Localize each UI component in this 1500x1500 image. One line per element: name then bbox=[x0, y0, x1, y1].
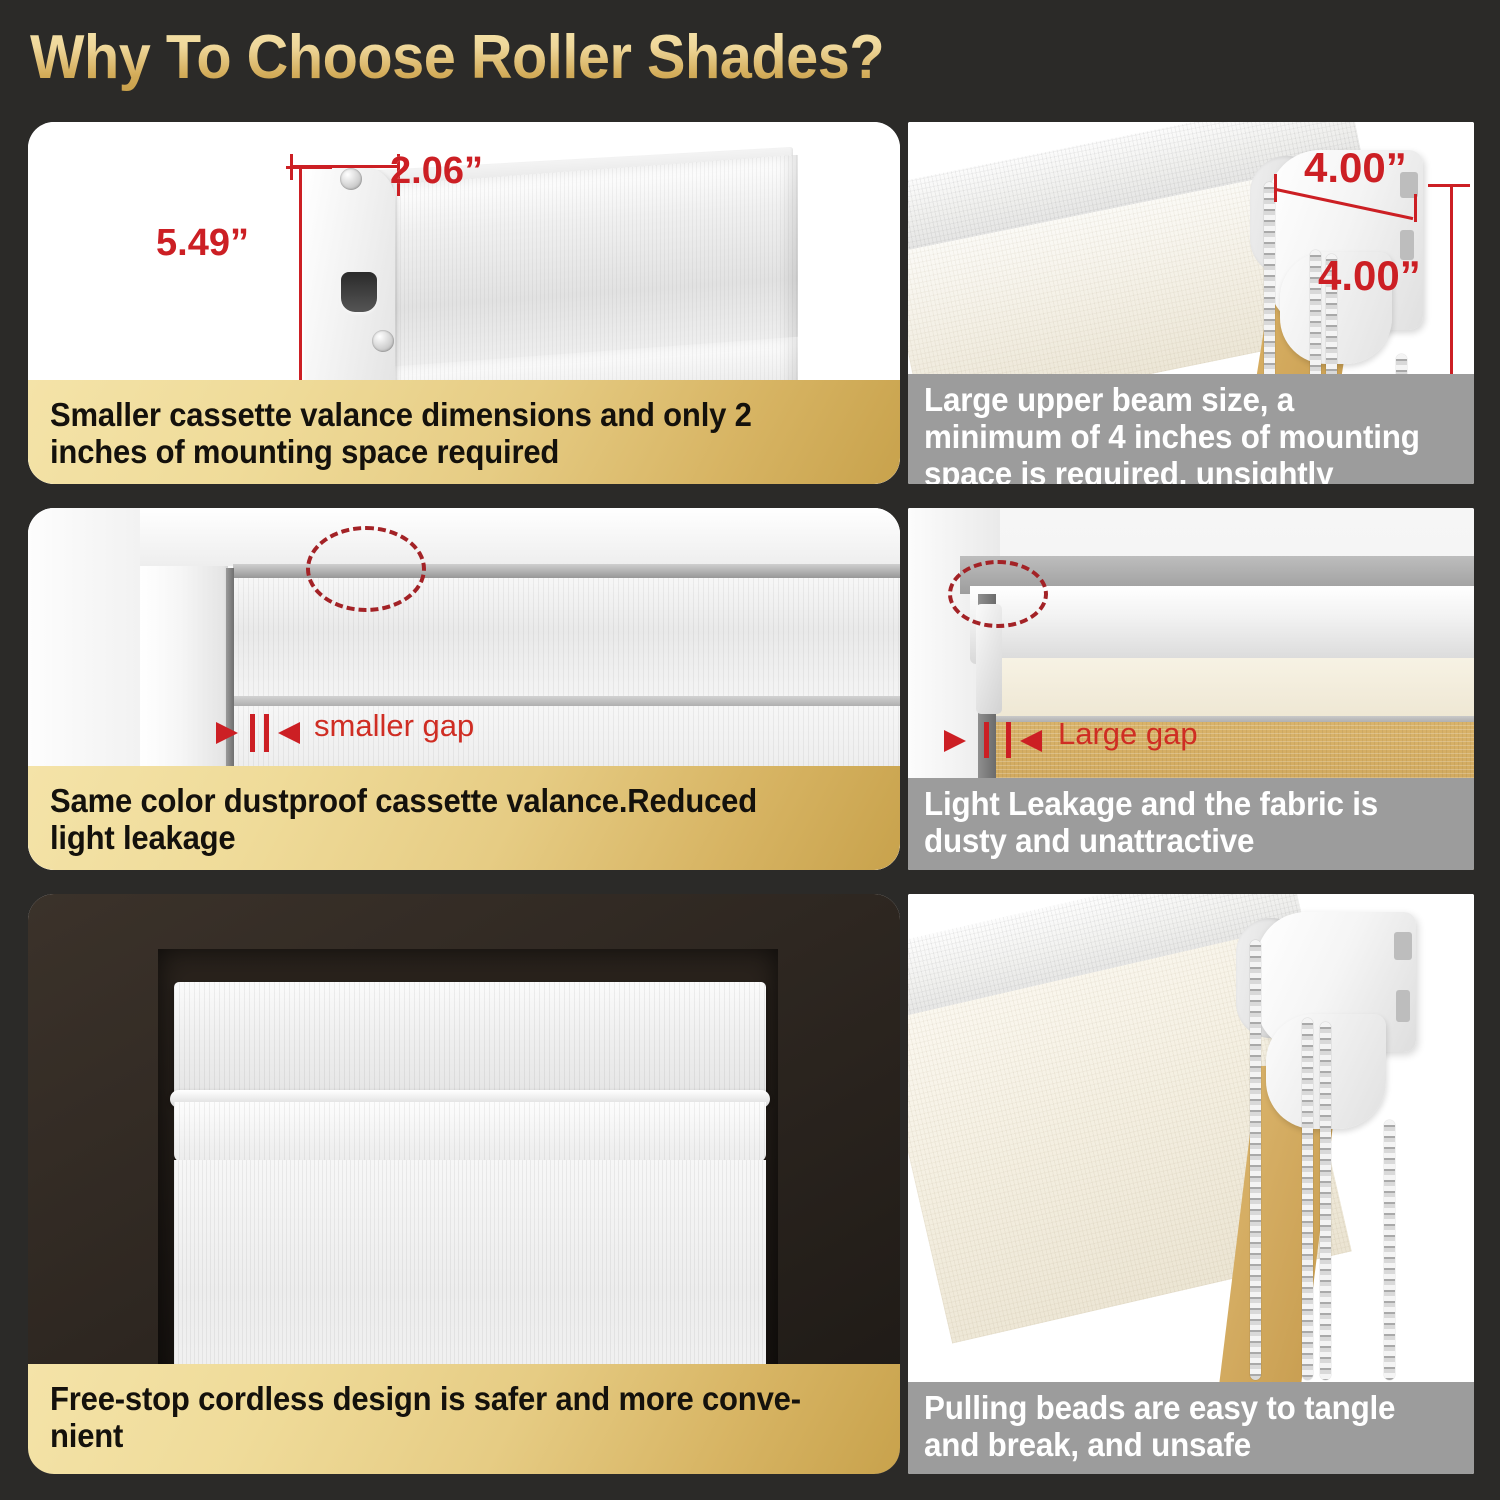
smaller-gap-arrow-left bbox=[216, 722, 238, 744]
large-gap-arrow-right bbox=[1020, 730, 1042, 752]
large-gap-label: Large gap bbox=[1058, 716, 1198, 752]
height-dimension-tick-top bbox=[286, 166, 332, 169]
panel-light-leakage: Large gap Light Leakage and the fabric i… bbox=[908, 508, 1474, 870]
beam-width-tick-left bbox=[1274, 174, 1277, 202]
bead-chain bbox=[1320, 1022, 1331, 1380]
large-gap-tick-left bbox=[984, 722, 989, 758]
smaller-gap-tick-left bbox=[250, 714, 255, 752]
panel-light-leakage-caption-text: Light Leakage and the fabric is dusty an… bbox=[924, 786, 1431, 860]
bead-chain bbox=[1384, 1120, 1395, 1380]
smaller-gap-highlight-circle bbox=[306, 526, 426, 612]
panel-large-upper-beam-caption: Large upper beam size, a minimum of 4 in… bbox=[908, 374, 1474, 484]
caption-line-1: Free-stop cordless design is safer and m… bbox=[50, 1380, 801, 1417]
panel-light-leakage-caption: Light Leakage and the fabric is dusty an… bbox=[908, 778, 1474, 870]
smaller-gap-label: smaller gap bbox=[314, 708, 474, 744]
page-title: Why To Choose Roller Shades? bbox=[30, 22, 884, 93]
panel-pulling-beads-caption: Pulling beads are easy to tangle and bre… bbox=[908, 1382, 1474, 1474]
large-gap-arrow-left bbox=[944, 730, 966, 752]
panel-dustproof-cassette-caption: Same color dustproof cassette valance.Re… bbox=[28, 766, 900, 870]
panel-pulling-beads: Pulling beads are easy to tangle and bre… bbox=[908, 894, 1474, 1474]
bead-chain bbox=[1302, 1018, 1313, 1380]
large-gap-tick-right bbox=[1006, 722, 1011, 758]
beam-height-dimension-line bbox=[1450, 184, 1453, 390]
panel-dustproof-cassette: smaller gap Same color dustproof cassett… bbox=[28, 508, 900, 870]
large-gap-highlight-circle bbox=[948, 560, 1048, 628]
panel-large-upper-beam: 4.00” 4.00” Large upper beam size, a min… bbox=[908, 122, 1474, 484]
panel-large-upper-beam-caption-text: Large upper beam size, a minimum of 4 in… bbox=[924, 382, 1431, 484]
panel-free-stop-cordless: Free-stop cordless design is safer and m… bbox=[28, 894, 900, 1474]
panel-smaller-cassette: 2.06” 5.49” Smaller cassette valance dim… bbox=[28, 122, 900, 484]
bead-chain bbox=[1250, 940, 1261, 1380]
width-dimension-label: 2.06” bbox=[390, 150, 483, 193]
height-dimension-label: 5.49” bbox=[156, 222, 249, 265]
smaller-gap-arrow-right bbox=[278, 722, 300, 744]
smaller-gap-tick-right bbox=[264, 714, 269, 752]
panel-free-stop-cordless-caption: Free-stop cordless design is safer and m… bbox=[28, 1364, 900, 1474]
panel-pulling-beads-caption-text: Pulling beads are easy to tangle and bre… bbox=[924, 1390, 1431, 1464]
panel-dustproof-cassette-caption-text: Same color dustproof cassette valance.Re… bbox=[50, 782, 828, 857]
infographic-root: Why To Choose Roller Shades? 2.06” 5.49”… bbox=[0, 0, 1500, 1500]
panel-free-stop-cordless-caption-text: Free-stop cordless design is safer and m… bbox=[50, 1380, 828, 1455]
panel-smaller-cassette-caption-text: Smaller cassette valance dimensions and … bbox=[50, 396, 828, 471]
panel-smaller-cassette-caption: Smaller cassette valance dimensions and … bbox=[28, 380, 900, 484]
caption-line-2: nient bbox=[50, 1417, 123, 1454]
beam-width-dimension-label: 4.00” bbox=[1304, 144, 1407, 192]
beam-width-tick-right bbox=[1414, 194, 1417, 222]
beam-height-tick-top bbox=[1428, 184, 1470, 187]
beam-height-dimension-label: 4.00” bbox=[1318, 252, 1421, 300]
